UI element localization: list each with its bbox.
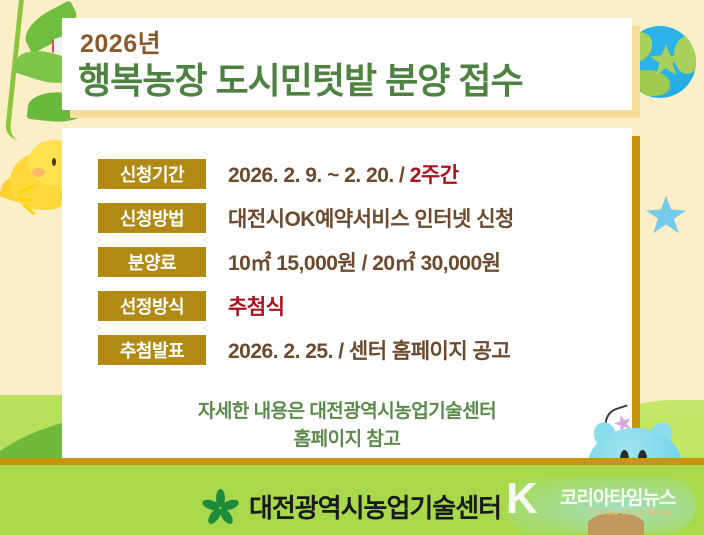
table-row: 분양료 10㎡ 15,000원 / 20㎡ 30,000원 bbox=[98, 240, 598, 284]
organization-name: 대전광역시농업기술센터 bbox=[249, 488, 501, 525]
row-value-text: 대전시OK예약서비스 인터넷 신청 bbox=[228, 208, 514, 231]
row-value: 2026. 2. 25. / 센터 홈페이지 공고 bbox=[228, 335, 510, 365]
watermark-name-en: Korea Time News bbox=[590, 507, 672, 517]
row-value-text: 2026. 2. 25. / 센터 홈페이지 공고 bbox=[228, 340, 510, 363]
row-value-text: 2026. 2. 9. ~ 2. 20. / bbox=[228, 164, 410, 187]
title-card: 2026년 행복농장 도시민텃밭 분양 접수 bbox=[62, 18, 632, 110]
flower-pinwheel-icon bbox=[203, 490, 237, 524]
note-line-1: 자세한 내용은 대전광역시농업기술센터 bbox=[62, 398, 632, 426]
row-value: 10㎡ 15,000원 / 20㎡ 30,000원 bbox=[228, 247, 501, 277]
row-value: 2026. 2. 9. ~ 2. 20. / 2주간 bbox=[228, 159, 459, 189]
row-value-highlight: 추첨식 bbox=[228, 296, 284, 319]
row-label-badge: 추첨발표 bbox=[98, 335, 206, 365]
row-label-badge: 신청기간 bbox=[98, 159, 206, 189]
row-value: 대전시OK예약서비스 인터넷 신청 bbox=[228, 203, 514, 233]
table-row: 신청방법 대전시OK예약서비스 인터넷 신청 bbox=[98, 196, 598, 240]
watermark-name-ko: 코리아타임뉴스 bbox=[560, 483, 675, 510]
table-row: 추첨발표 2026. 2. 25. / 센터 홈페이지 공고 bbox=[98, 328, 598, 372]
earth-globe-icon bbox=[624, 26, 696, 98]
table-row: 신청기간 2026. 2. 9. ~ 2. 20. / 2주간 bbox=[98, 152, 598, 196]
note-line-2: 홈페이지 참고 bbox=[62, 426, 632, 454]
row-value-highlight: 2주간 bbox=[410, 164, 459, 187]
row-label-badge: 선정방식 bbox=[98, 291, 206, 321]
row-value: 추첨식 bbox=[228, 291, 284, 321]
watermark: K 코리아타임뉴스 Korea Time News bbox=[504, 475, 700, 533]
info-table: 신청기간 2026. 2. 9. ~ 2. 20. / 2주간 신청방법 대전시… bbox=[98, 152, 598, 372]
row-value-text: 10㎡ 15,000원 / 20㎡ 30,000원 bbox=[228, 252, 501, 275]
page-title: 행복농장 도시민텃밭 분양 접수 bbox=[78, 52, 523, 104]
note-block: 자세한 내용은 대전광역시농업기술센터 홈페이지 참고 bbox=[62, 398, 632, 453]
table-row: 선정방식 추첨식 bbox=[98, 284, 598, 328]
row-label-badge: 분양료 bbox=[98, 247, 206, 277]
row-label-badge: 신청방법 bbox=[98, 203, 206, 233]
poster-canvas: 2026년 행복농장 도시민텃밭 분양 접수 신청기간 2026. 2. 9. … bbox=[0, 0, 704, 535]
watermark-k-mark: K bbox=[506, 477, 538, 521]
